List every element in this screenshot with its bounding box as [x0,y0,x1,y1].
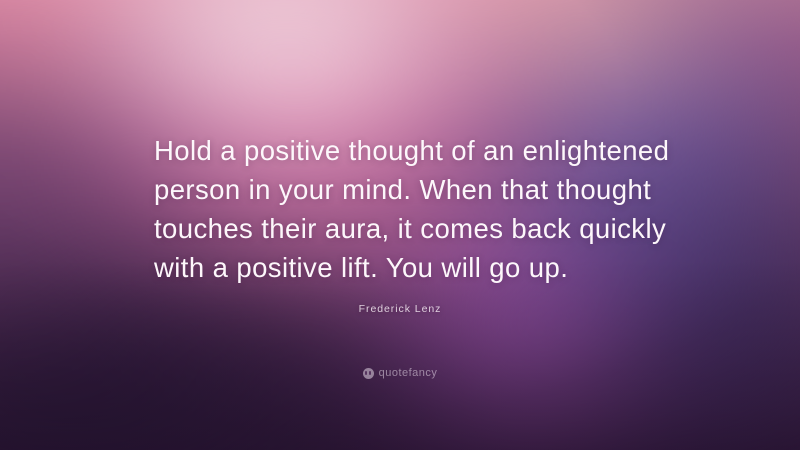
quote-wallpaper: Hold a positive thought of an enlightene… [0,0,800,450]
watermark-label: quotefancy [379,367,438,379]
quote-line: Hold a positive thought of an enlightene… [154,131,646,170]
quote-text: Hold a positive thought of an enlightene… [154,131,646,287]
quote-line: person in your mind. When that thought [154,170,646,209]
quote-mark-icon [363,368,374,379]
quote-line: touches their aura, it comes back quickl… [154,209,646,248]
quote-line: with a positive lift. You will go up. [154,248,646,287]
content-overlay: Hold a positive thought of an enlightene… [0,0,800,450]
quote-author: Frederick Lenz [0,303,800,315]
watermark[interactable]: quotefancy [0,367,800,379]
